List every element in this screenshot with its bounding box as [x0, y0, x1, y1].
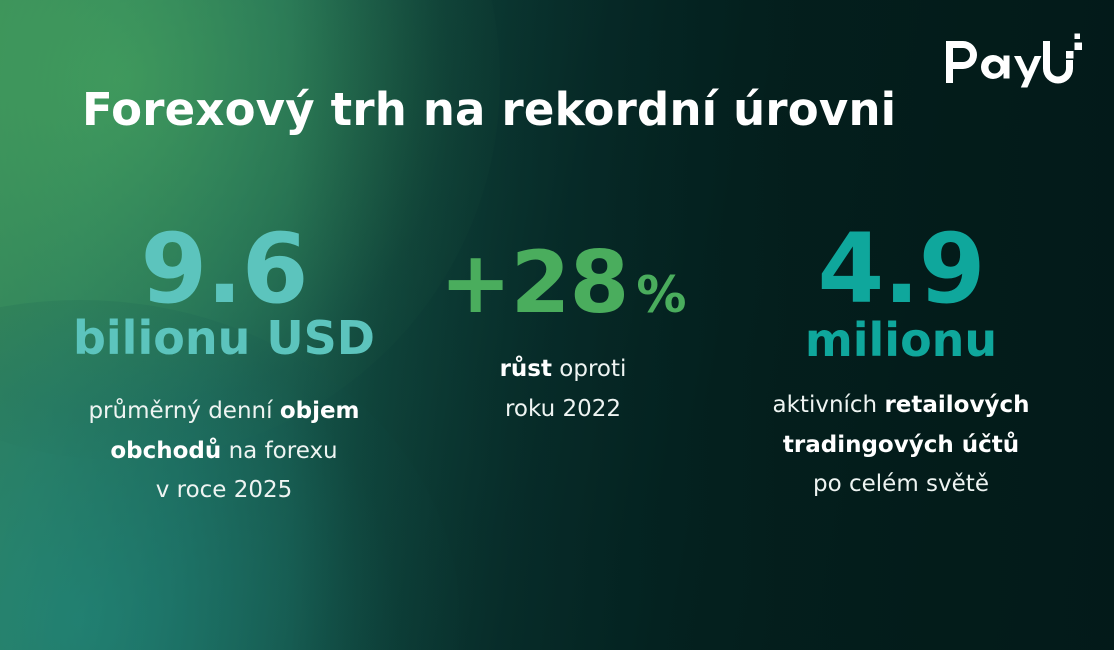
- description-text: v roce 2025: [156, 477, 293, 503]
- infographic-canvas: Forexový trh na rekordní úrovni 9.6 bili…: [0, 0, 1114, 650]
- stat-value-wrap: +28%: [420, 222, 706, 326]
- description-line: růst oproti: [420, 350, 706, 390]
- description-line: po celém světě: [706, 465, 1096, 505]
- stat-description: růst oprotiroku 2022: [420, 350, 706, 429]
- stat-value: +28: [440, 233, 629, 333]
- description-line: roku 2022: [420, 390, 706, 430]
- payu-logo: [944, 31, 1086, 93]
- stat-unit: bilionu USD: [28, 314, 420, 362]
- description-emphasis: obchodů: [110, 438, 221, 464]
- stat-card-growth: +28% růst oprotiroku 2022: [420, 222, 706, 429]
- stat-description: průměrný denní objemobchodů na forexuv r…: [28, 392, 420, 511]
- description-line: obchodů na forexu: [28, 432, 420, 472]
- description-text: na forexu: [221, 438, 337, 464]
- description-emphasis: retailových: [884, 392, 1029, 418]
- description-text: průměrný denní: [88, 398, 279, 424]
- stat-unit: milionu: [706, 316, 1096, 364]
- description-emphasis: tradingových účtů: [783, 432, 1019, 458]
- percent-symbol: %: [636, 266, 686, 324]
- description-text: roku 2022: [505, 396, 621, 422]
- stat-value: 4.9: [706, 222, 1096, 316]
- description-text: oproti: [552, 356, 626, 382]
- stat-description: aktivních retailovýchtradingových účtůpo…: [706, 386, 1096, 505]
- description-text: aktivních: [773, 392, 885, 418]
- stat-value: 9.6: [28, 222, 420, 316]
- description-line: aktivních retailových: [706, 386, 1096, 426]
- stat-card-volume: 9.6 bilionu USD průměrný denní objemobch…: [0, 222, 420, 511]
- description-text: po celém světě: [813, 471, 989, 497]
- stats-row: 9.6 bilionu USD průměrný denní objemobch…: [0, 222, 1114, 511]
- page-title: Forexový trh na rekordní úrovni: [82, 83, 896, 136]
- description-emphasis: růst: [500, 356, 552, 382]
- stat-card-accounts: 4.9 milionu aktivních retailovýchtrading…: [706, 222, 1114, 505]
- description-emphasis: objem: [280, 398, 360, 424]
- description-line: průměrný denní objem: [28, 392, 420, 432]
- description-line: tradingových účtů: [706, 426, 1096, 466]
- description-line: v roce 2025: [28, 471, 420, 511]
